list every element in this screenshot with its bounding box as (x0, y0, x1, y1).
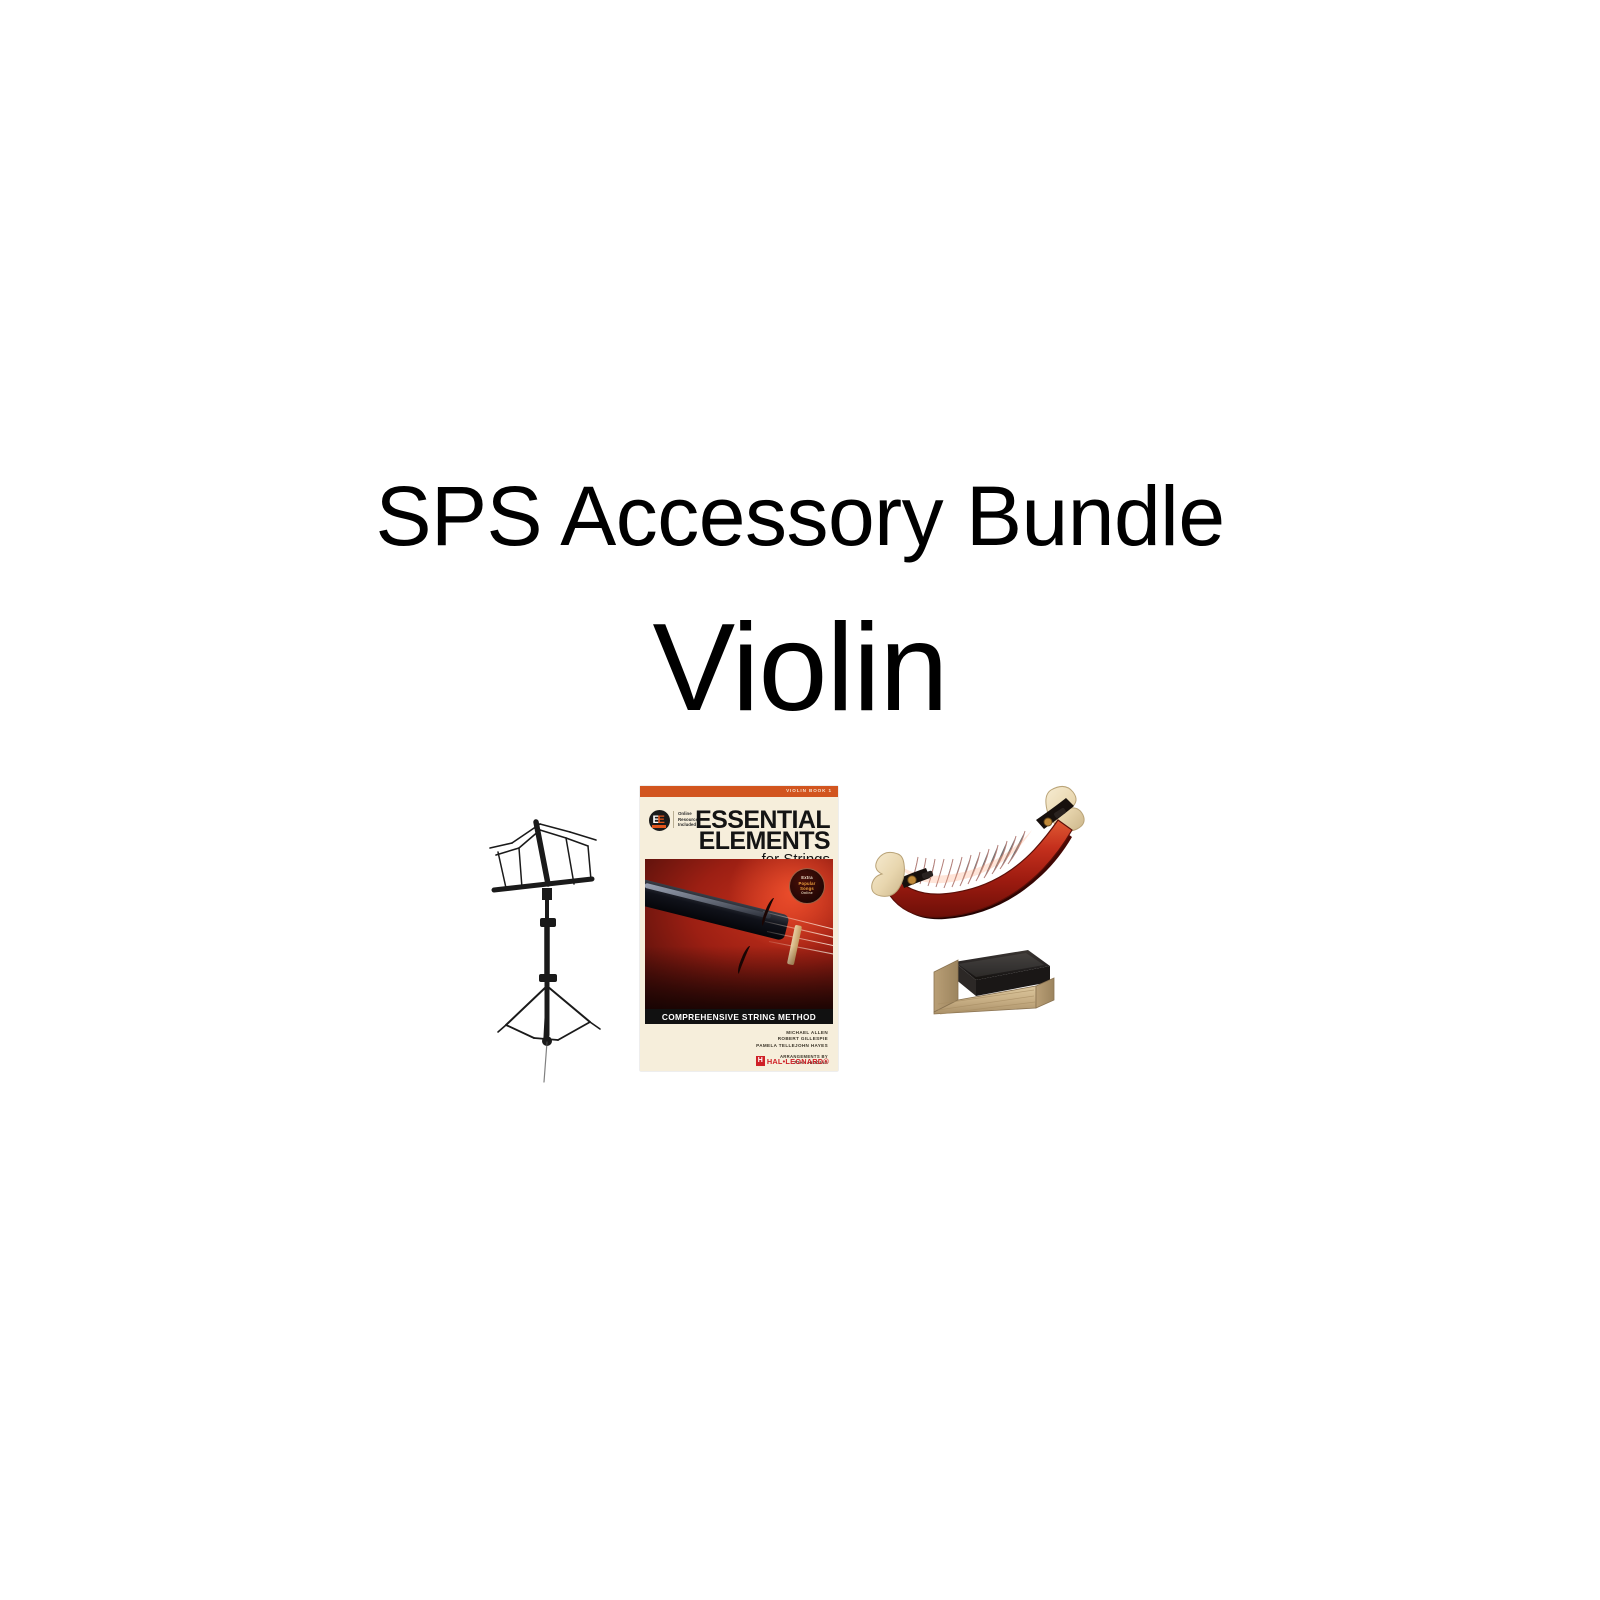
publisher-logo: H HAL•LEONARD® (756, 1056, 829, 1066)
publisher-name: HAL•LEONARD® (767, 1057, 829, 1066)
product-image-music-stand (478, 810, 608, 1100)
logo-bar (652, 825, 666, 828)
book-top-banner: VIOLIN BOOK 1 (640, 786, 838, 797)
book-method-label: COMPREHENSIVE STRING METHOD (662, 1012, 816, 1022)
book-title-line-2: ELEMENTS (699, 830, 830, 853)
badge-line-4: Online (801, 891, 813, 896)
book-header-area: E E Online Resources Included ESSENTIAL … (640, 797, 838, 849)
book-method-band: COMPREHENSIVE STRING METHOD (645, 1009, 833, 1024)
shoulder-rest-icon (868, 780, 1108, 915)
page-title: SPS Accessory Bundle (0, 468, 1600, 564)
product-image-rosin (932, 920, 1057, 1015)
book-banner-label: VIOLIN BOOK 1 (786, 788, 832, 793)
product-image-shoulder-rest (868, 780, 1108, 915)
music-stand-icon (478, 810, 608, 1100)
cover-photo-shadow (645, 946, 833, 1009)
product-image-method-book: VIOLIN BOOK 1 E E Online Resources Inclu… (640, 786, 838, 1071)
author-name: PAMELA TELLEJOHN HAYES (756, 1043, 828, 1049)
product-images-row: VIOLIN BOOK 1 E E Online Resources Inclu… (0, 770, 1600, 1100)
page-subtitle: Violin (0, 598, 1600, 738)
product-bundle-graphic: SPS Accessory Bundle Violin (0, 0, 1600, 1600)
hal-leonard-mark-icon: H (756, 1056, 765, 1066)
book-cover-photo: Extra Popular Songs Online (645, 859, 833, 1009)
extra-songs-badge: Extra Popular Songs Online (789, 868, 825, 904)
rosin-icon (932, 920, 1057, 1015)
essential-elements-logo-icon: E E (649, 810, 670, 831)
